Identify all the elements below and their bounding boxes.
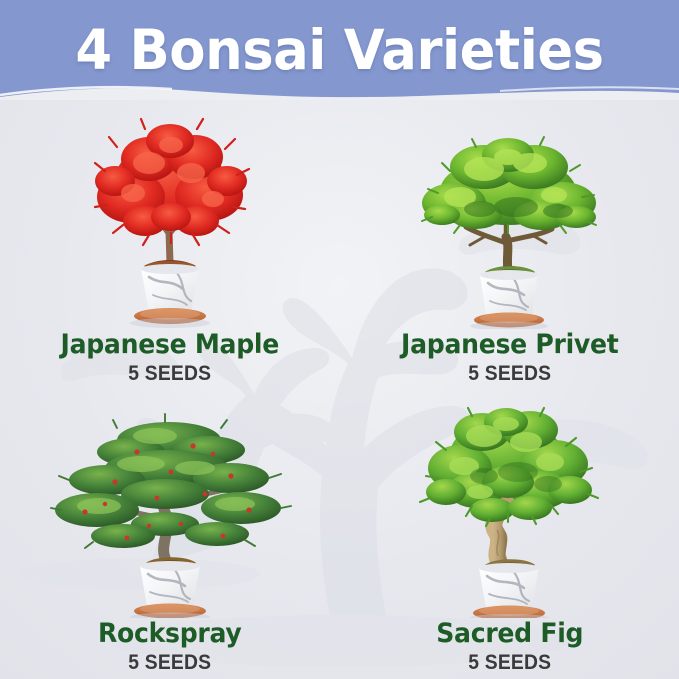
plant-image-rockspray [0,390,340,619]
plant-image-japanese-maple [0,100,340,329]
bonsai-varieties-poster: 4 Bonsai Varieties [0,0,679,679]
product-seed-count: 5 SEEDS [14,650,326,675]
product-cell-japanese-maple[interactable]: Japanese Maple 5 SEEDS [0,100,340,390]
product-cell-sacred-fig[interactable]: Sacred Fig 5 SEEDS [340,390,679,679]
banner-wave-divider [0,84,679,100]
caption-rockspray: Rockspray 5 SEEDS [0,618,340,679]
caption-sacred-fig: Sacred Fig 5 SEEDS [340,618,679,679]
plant-image-japanese-privet [340,100,679,329]
product-name: Japanese Privet [351,329,667,361]
product-grid: Japanese Maple 5 SEEDS [0,100,679,679]
product-seed-count: 5 SEEDS [353,361,665,386]
product-cell-rockspray[interactable]: Rockspray 5 SEEDS [0,390,340,679]
header-banner: 4 Bonsai Varieties [0,0,679,100]
caption-japanese-privet: Japanese Privet 5 SEEDS [340,329,679,390]
caption-japanese-maple: Japanese Maple 5 SEEDS [0,329,340,390]
product-name: Sacred Fig [351,618,667,650]
product-seed-count: 5 SEEDS [353,650,665,675]
product-name: Rockspray [12,618,328,650]
product-seed-count: 5 SEEDS [14,361,326,386]
product-name: Japanese Maple [12,329,328,361]
plant-image-sacred-fig [340,390,679,619]
product-cell-japanese-privet[interactable]: Japanese Privet 5 SEEDS [340,100,679,390]
